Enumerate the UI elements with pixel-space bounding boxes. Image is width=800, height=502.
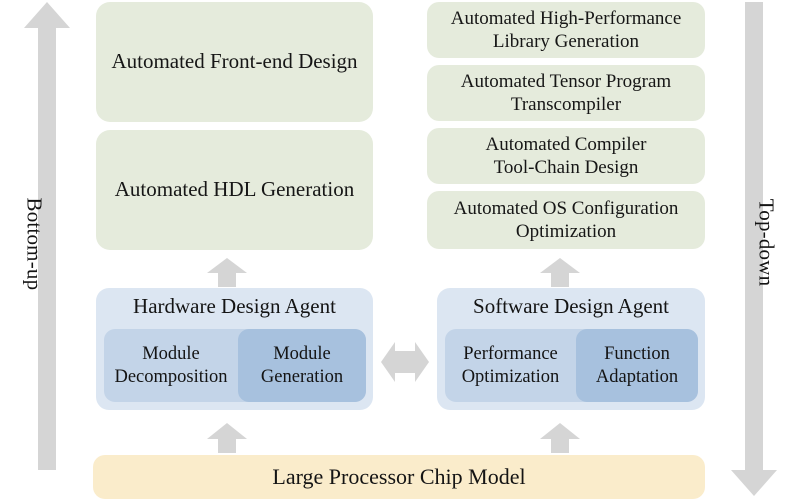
- software-design-agent-title: Software Design Agent: [437, 294, 705, 319]
- software-stage-label-line2: Optimization: [516, 221, 616, 242]
- bottom-up-label: Bottom-up: [22, 198, 47, 288]
- software-agent-inner-panel: Performance Optimization Function Adapta…: [445, 329, 698, 402]
- cell-label-line2: Adaptation: [596, 367, 678, 387]
- software-stage-box-tensor-transcompiler[interactable]: Automated Tensor Program Transcompiler: [427, 65, 705, 121]
- top-down-label: Top-down: [754, 199, 779, 287]
- cell-label-line2: Generation: [261, 367, 343, 387]
- hardware-stage-box-hdl[interactable]: Automated HDL Generation: [96, 130, 373, 250]
- hardware-agent-cell-module-generation[interactable]: Module Generation: [238, 329, 366, 402]
- hardware-design-agent-title: Hardware Design Agent: [96, 294, 373, 319]
- hardware-stage-label: Automated HDL Generation: [115, 177, 354, 203]
- figure-canvas: Bottom-up Top-down Automated Front-end D…: [0, 0, 800, 502]
- large-processor-chip-model-bar[interactable]: Large Processor Chip Model: [93, 455, 705, 499]
- software-stage-label-line2: Tool-Chain Design: [494, 157, 639, 178]
- software-stage-label-line2: Library Generation: [493, 31, 639, 52]
- hardware-stage-label: Automated Front-end Design: [111, 49, 357, 75]
- software-agent-cell-function-adaptation[interactable]: Function Adaptation: [576, 329, 698, 402]
- hardware-design-agent[interactable]: Hardware Design Agent Module Decompositi…: [96, 288, 373, 410]
- cell-label-line1: Function: [604, 344, 670, 364]
- hardware-stage-box-front-end[interactable]: Automated Front-end Design: [96, 2, 373, 122]
- software-stage-label-line2: Transcompiler: [511, 94, 621, 115]
- hardware-agent-up-arrow-icon: [207, 258, 247, 287]
- hardware-agent-inner-panel: Module Decomposition Module Generation: [104, 329, 366, 402]
- software-stage-box-os-configuration[interactable]: Automated OS Configuration Optimization: [427, 191, 705, 249]
- foundation-to-hardware-arrow-icon: [207, 423, 247, 453]
- agents-bidirectional-arrow-icon: [381, 337, 429, 387]
- software-stage-label-line1: Automated High-Performance: [451, 8, 682, 29]
- software-stage-label-line1: Automated Tensor Program: [461, 71, 671, 92]
- software-stage-box-compiler-toolchain[interactable]: Automated Compiler Tool-Chain Design: [427, 128, 705, 184]
- software-agent-up-arrow-icon: [540, 258, 580, 287]
- software-stage-label-line1: Automated OS Configuration: [454, 198, 679, 219]
- cell-label-line1: Module: [273, 344, 331, 364]
- software-design-agent[interactable]: Software Design Agent Performance Optimi…: [437, 288, 705, 410]
- software-agent-cell-performance-optimization[interactable]: Performance Optimization: [445, 329, 576, 402]
- cell-label-line1: Module: [142, 344, 200, 364]
- foundation-to-software-arrow-icon: [540, 423, 580, 453]
- cell-label-line1: Performance: [463, 344, 558, 364]
- cell-label-line2: Optimization: [462, 367, 560, 387]
- foundation-label: Large Processor Chip Model: [272, 464, 525, 490]
- software-stage-label-line1: Automated Compiler: [486, 134, 647, 155]
- hardware-agent-cell-module-decomposition[interactable]: Module Decomposition: [104, 329, 238, 402]
- cell-label-line2: Decomposition: [114, 367, 227, 387]
- software-stage-box-library-generation[interactable]: Automated High-Performance Library Gener…: [427, 2, 705, 58]
